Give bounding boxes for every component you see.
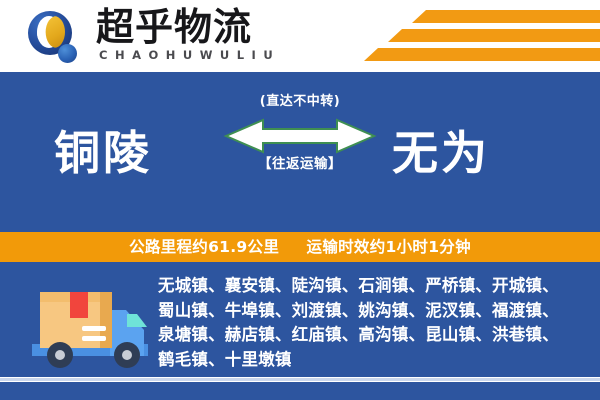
town-line: 鹤毛镇、十里墩镇 [158,348,590,373]
info-bar-content: 公路里程约61.9公里 运输时效约1小时1分钟 [129,232,471,262]
brand-name-en: CHAOHUWULIU [99,48,280,62]
route-info-bar: 公路里程约61.9公里 运输时效约1小时1分钟 [0,232,600,262]
origin-city-name: 铜陵 [54,130,152,176]
delivery-truck-icon [26,276,154,372]
town-line: 泉塘镇、赫店镇、红庙镇、高沟镇、昆山镇、洪巷镇、 [158,323,590,348]
logo-accent-dot [58,44,77,63]
banner-header: 超乎物流 CHAOHUWULIU [0,0,600,72]
route-arrow-block: (直达不中转) 【往返运输】 [225,90,375,215]
direct-shipping-label: (直达不中转) [225,90,375,109]
duration-text: 运输时效约1小时1分钟 [307,238,471,256]
stripe-2 [388,29,600,42]
town-line: 无城镇、襄安镇、陡沟镇、石涧镇、严桥镇、开城镇、 [158,274,590,299]
bottom-divider [0,377,600,382]
destination-city-name: 无为 [392,130,490,176]
route-panel: 铜陵 (直达不中转) 【往返运输】 无为 [0,72,600,232]
stripe-1 [412,10,600,23]
round-trip-label: 【往返运输】 [225,152,375,172]
chaohu-circle-logo-icon [28,11,80,63]
covered-towns-list: 无城镇、襄安镇、陡沟镇、石涧镇、严桥镇、开城镇、 蜀山镇、牛埠镇、刘渡镇、姚沟镇… [158,274,590,372]
bidirectional-arrow-icon [223,116,377,156]
stripe-3 [364,48,600,61]
distance-text: 公路里程约61.9公里 [129,238,279,256]
town-line: 蜀山镇、牛埠镇、刘渡镇、姚沟镇、泥汊镇、福渡镇、 [158,299,590,324]
coverage-panel: 无城镇、襄安镇、陡沟镇、石涧镇、严桥镇、开城镇、 蜀山镇、牛埠镇、刘渡镇、姚沟镇… [0,262,600,400]
brand-name-cn: 超乎物流 [96,6,252,48]
header-stripe-decoration [340,8,600,64]
logistics-route-banner: 超乎物流 CHAOHUWULIU 铜陵 (直达不中转) 【往返运输】 无为 公路… [0,0,600,400]
